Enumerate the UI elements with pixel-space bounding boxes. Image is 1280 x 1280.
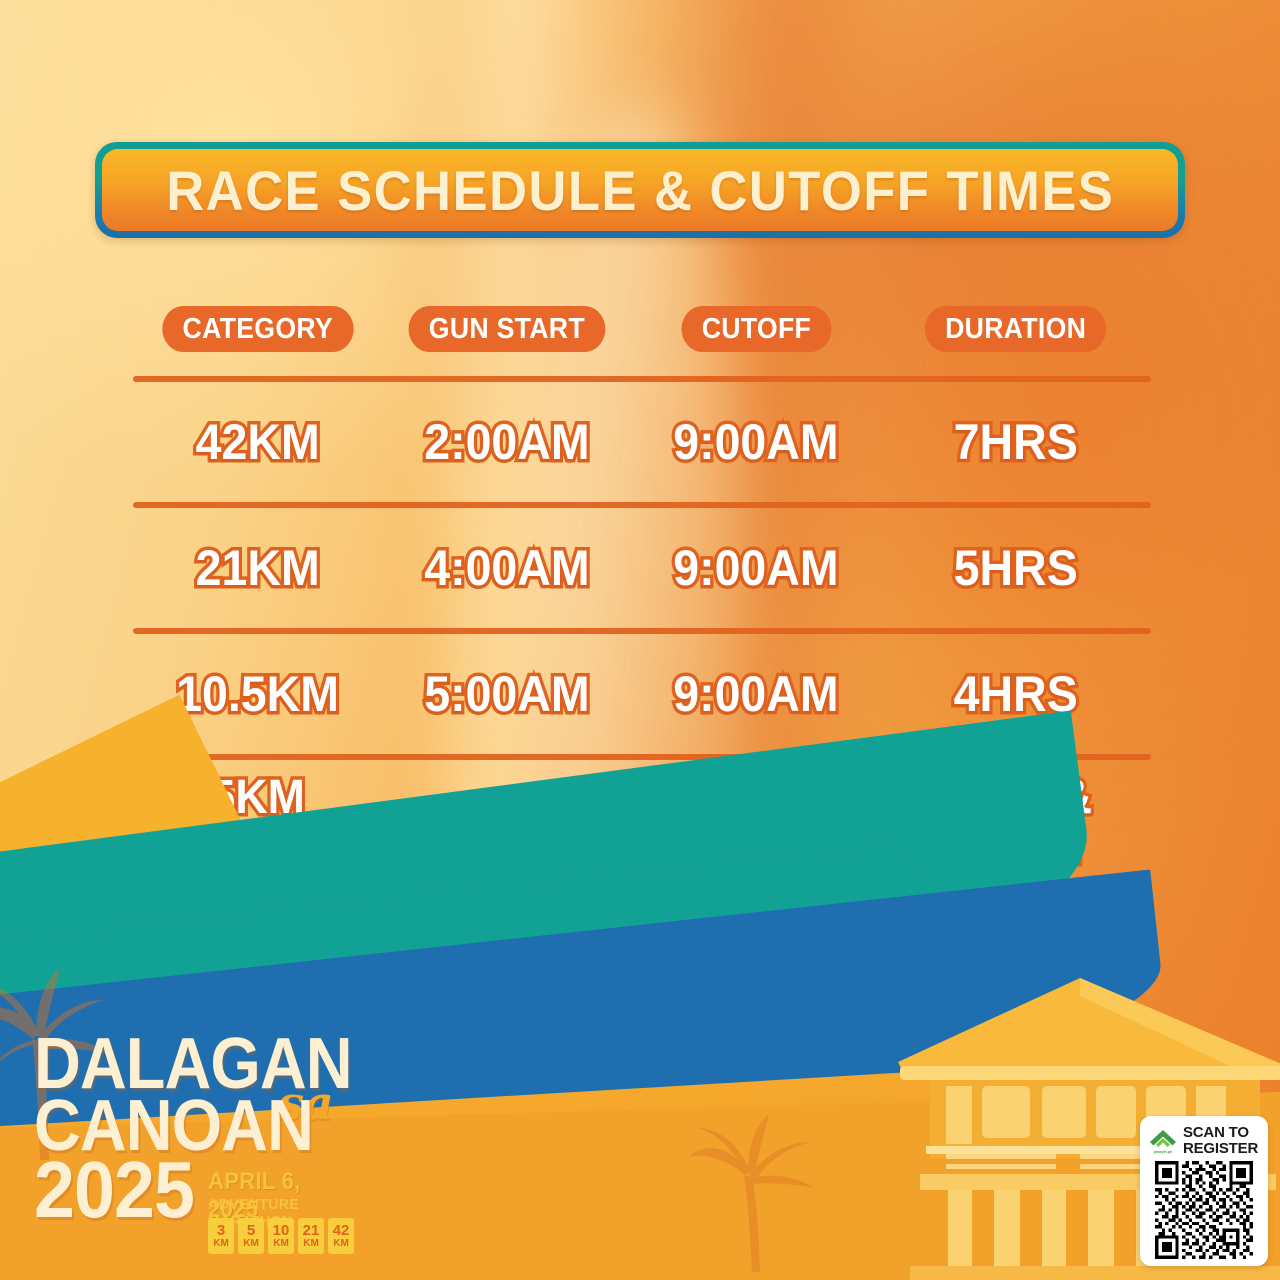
distance-badge-unit: KM [243,1239,259,1249]
distance-badge-unit: KM [213,1239,229,1249]
cell-cutoff: 9:00AM [631,417,881,467]
distance-badge: 42 KM [328,1218,354,1254]
title-banner: RACE SCHEDULE & CUTOFF TIMES [95,142,1185,238]
qr-code-image[interactable] [1148,1161,1260,1259]
scan-to-register-card[interactable]: pinoyfit.ph SCAN TO REGISTER [1140,1116,1268,1266]
value-duration: 5HRS [954,543,1078,593]
cell-duration: 7HRS [881,417,1151,467]
header-cell-duration: DURATION [881,306,1151,352]
qr-card-header: pinoyfit.ph SCAN TO REGISTER [1148,1124,1260,1158]
distance-badge-unit: KM [273,1239,289,1249]
logo-year: 2025 [34,1150,194,1230]
value-cutoff: 9:00AM [673,669,838,719]
cell-category: 42KM [133,417,383,467]
distance-badge: 10 KM [268,1218,294,1254]
table-divider [133,502,1151,508]
value-category: 10.5KM [177,669,340,719]
title-banner-inner: RACE SCHEDULE & CUTOFF TIMES [102,149,1178,231]
palm-tree-icon [680,1112,830,1272]
table-divider [133,628,1151,634]
event-logo: DALAGAN sa CANOAN 2025 APRIL 6, 2025 ADV… [26,1022,356,1272]
distance-badge-unit: KM [333,1239,349,1249]
header-pill-cutoff: CUTOFF [681,306,831,352]
page-title: RACE SCHEDULE & CUTOFF TIMES [166,158,1114,223]
distance-badges: 3 KM 5 KM 10 KM 21 KM 42 KM [208,1218,354,1254]
distance-badge-unit: KM [303,1239,319,1249]
value-duration: 7HRS [954,417,1078,467]
header-cell-category: CATEGORY [133,306,383,352]
race-schedule-poster: RACE SCHEDULE & CUTOFF TIMES CATEGORY GU… [0,0,1280,1280]
scan-label-line2: REGISTER [1183,1141,1258,1157]
pinoyfit-wordmark: pinoyfit.ph [1154,1150,1172,1154]
table-row: 21KM 4:00AM 9:00AM 5HRS [133,508,1151,628]
scan-label-line1: SCAN TO [1183,1125,1258,1141]
value-category: 21KM [196,543,320,593]
distance-badge: 3 KM [208,1218,234,1254]
header-cell-cutoff: CUTOFF [631,306,881,352]
cell-category: 21KM [133,543,383,593]
distance-badge: 21 KM [298,1218,324,1254]
header-pill-category: CATEGORY [163,306,354,352]
table-row: 42KM 2:00AM 9:00AM 7HRS [133,382,1151,502]
value-gun-start: 4:00AM [424,543,589,593]
distance-badge-number: 3 [217,1223,225,1238]
distance-badge: 5 KM [238,1218,264,1254]
distance-badge-number: 21 [303,1223,320,1238]
cell-gun-start: 2:00AM [383,417,631,467]
cell-duration: 5HRS [881,543,1151,593]
cell-cutoff: 9:00AM [631,543,881,593]
header-pill-duration: DURATION [925,306,1107,352]
distance-badge-number: 10 [273,1223,290,1238]
table-divider [133,376,1151,382]
header-pill-gun-start: GUN START [409,306,606,352]
cell-gun-start: 4:00AM [383,543,631,593]
distance-badge-number: 5 [247,1223,255,1238]
cell-duration: 4HRS [881,669,1151,719]
cell-gun-start: 5:00AM [383,669,631,719]
distance-badge-number: 42 [333,1223,350,1238]
value-cutoff: 9:00AM [673,543,838,593]
value-gun-start: 5:00AM [424,669,589,719]
value-gun-start: 2:00AM [424,417,589,467]
header-cell-gun-start: GUN START [383,306,631,352]
value-cutoff: 9:00AM [673,417,838,467]
scan-to-register-label: SCAN TO REGISTER [1183,1125,1258,1156]
pinoyfit-logo-icon: pinoyfit.ph [1148,1129,1178,1154]
value-category: 42KM [196,417,320,467]
cell-cutoff: 9:00AM [631,669,881,719]
table-header-row: CATEGORY GUN START CUTOFF DURATION [133,306,1151,352]
